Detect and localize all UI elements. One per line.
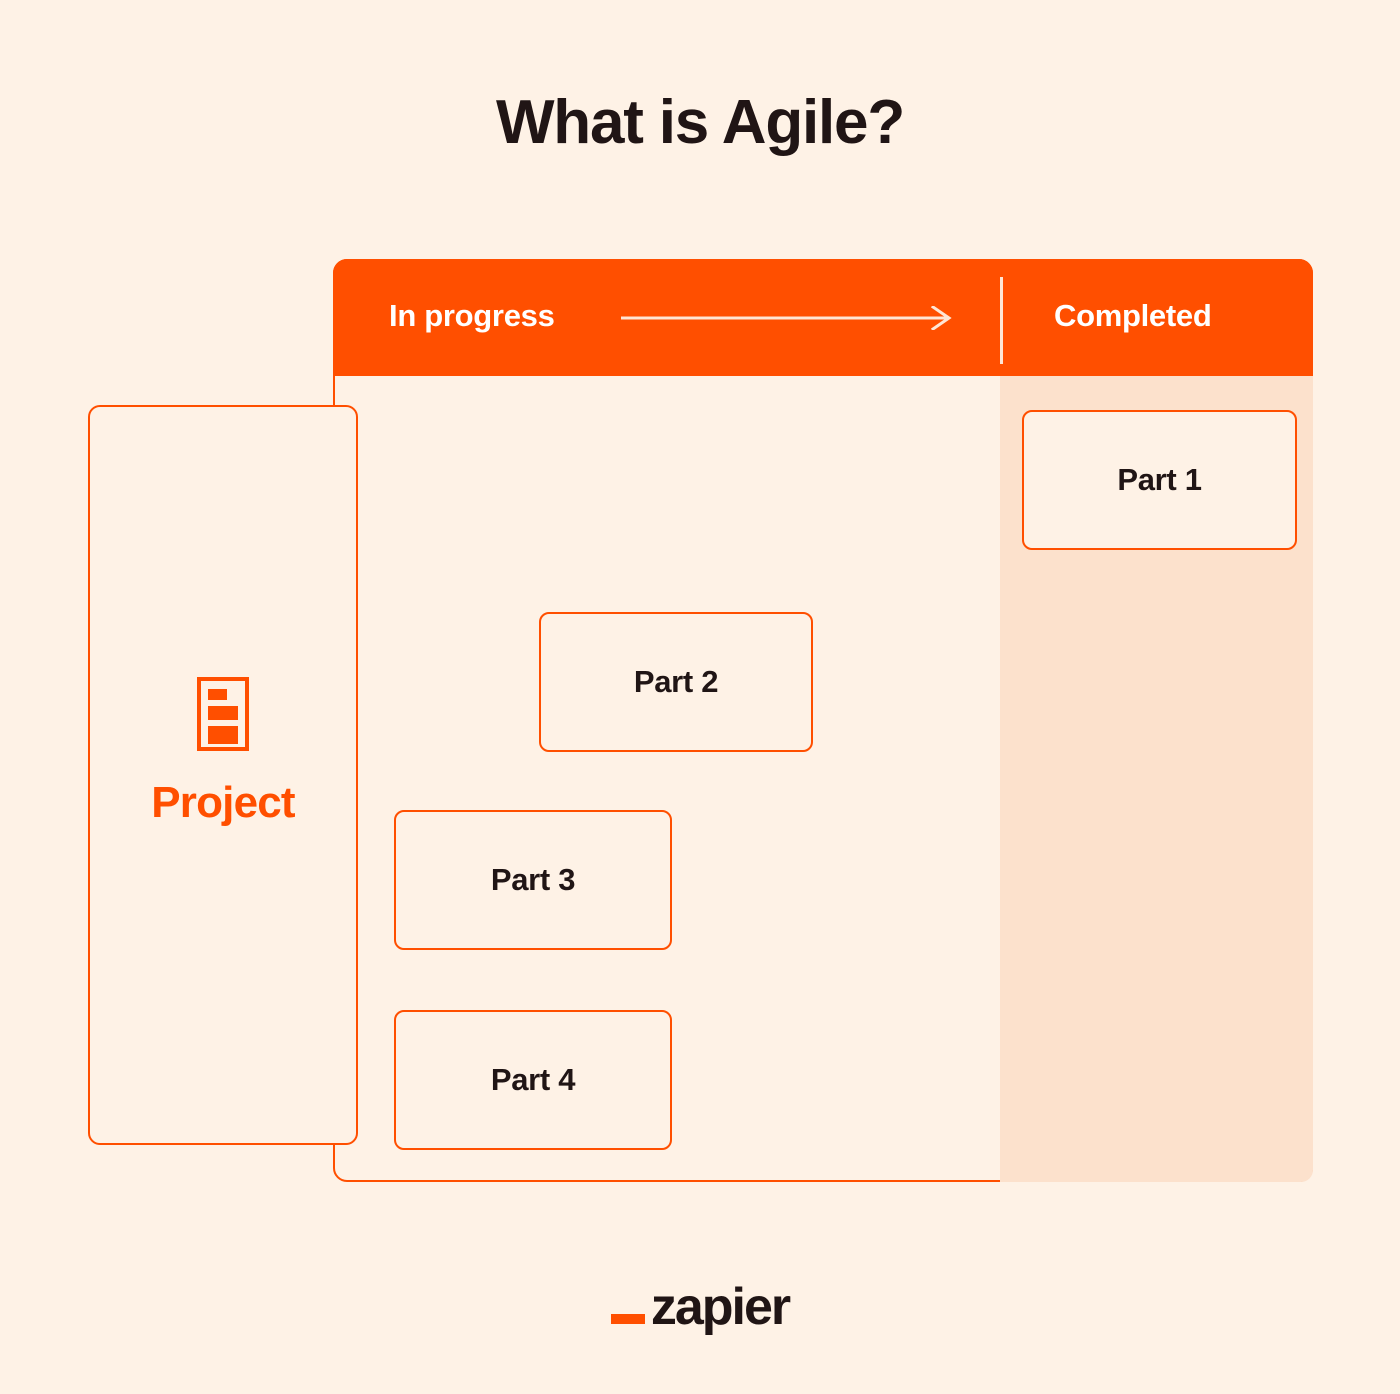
card-part-3[interactable]: Part 3 [394, 810, 672, 950]
project-label: Project [90, 781, 356, 825]
zapier-logo: zapier [0, 1283, 1400, 1332]
in-progress-column-label: In progress [389, 297, 555, 334]
right-arrow-icon [621, 306, 953, 330]
zapier-wordmark: zapier [651, 1283, 789, 1332]
zapier-dash-icon [611, 1314, 645, 1324]
infographic-canvas: What is Agile? In progress Completed Par… [0, 0, 1400, 1394]
kanban-board: In progress Completed Part 1 Part 2 Part… [333, 259, 1313, 1182]
page-title: What is Agile? [0, 92, 1400, 154]
column-divider [1000, 277, 1003, 364]
document-lines-icon [197, 677, 249, 751]
card-part-1[interactable]: Part 1 [1022, 410, 1297, 550]
completed-column-label: Completed [1054, 297, 1211, 334]
project-panel-content: Project [90, 677, 356, 825]
board-header: In progress Completed [333, 259, 1313, 376]
card-part-2[interactable]: Part 2 [539, 612, 813, 752]
card-part-4[interactable]: Part 4 [394, 1010, 672, 1150]
project-panel: Project [88, 405, 358, 1145]
